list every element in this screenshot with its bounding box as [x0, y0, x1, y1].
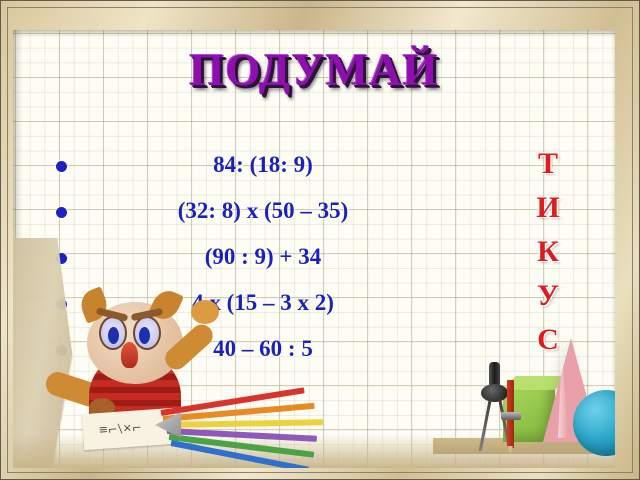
bullet-icon	[56, 161, 67, 172]
compass-divider-icon	[465, 358, 525, 454]
owl-right-hand	[191, 300, 219, 324]
compass-leg-left	[479, 398, 492, 452]
owl-beak	[121, 342, 138, 368]
page-shadow-top	[13, 30, 615, 38]
grid-paper-area: ПОДУМАЙ 84: (18: 9) (32: 8) x (50 – 35) …	[13, 30, 615, 468]
compass-clamp	[501, 412, 521, 420]
vertical-letter: У	[511, 274, 585, 318]
colored-pencils	[153, 404, 353, 450]
list-item: (90 : 9) + 34	[43, 240, 443, 286]
vertical-word: Т И К У С	[511, 142, 585, 362]
slide-canvas: ПОДУМАЙ 84: (18: 9) (32: 8) x (50 – 35) …	[0, 0, 640, 480]
list-item: 84: (18: 9)	[43, 148, 443, 194]
owl-pupil-right	[139, 327, 150, 344]
expression-text: (90 : 9) + 34	[83, 244, 443, 270]
expression-text: (32: 8) x (50 – 35)	[83, 198, 443, 224]
vertical-letter: И	[511, 186, 585, 230]
vertical-letter: Т	[511, 142, 585, 186]
owl-pupil-left	[108, 327, 119, 344]
compass-hub	[481, 384, 508, 402]
vertical-letter: К	[511, 230, 585, 274]
list-item: (32: 8) x (50 – 35)	[43, 194, 443, 240]
expression-text: 84: (18: 9)	[83, 152, 443, 178]
page-title: ПОДУМАЙ	[13, 44, 615, 96]
compass-pencil-tip	[507, 446, 513, 455]
pencil-yellow	[165, 419, 323, 428]
bullet-icon	[56, 207, 67, 218]
